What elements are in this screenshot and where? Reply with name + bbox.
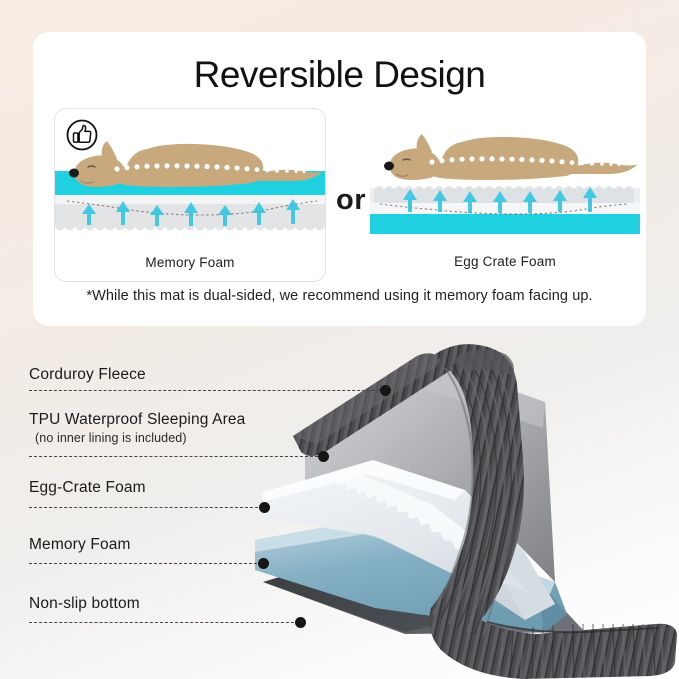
panel-memory-foam: Memory Foam (54, 108, 326, 282)
thumbs-up-icon (65, 118, 99, 152)
leader-dot-tpu (318, 451, 329, 462)
panel-caption-memory-foam: Memory Foam (55, 255, 325, 270)
label-nonslip-bottom: Non-slip bottom (29, 595, 140, 613)
leader-line-memory-foam (29, 563, 262, 564)
reversible-design-card: Reversible Design (33, 32, 646, 326)
leader-dot-nonslip-bottom (295, 617, 306, 628)
label-memory-foam: Memory Foam (29, 536, 131, 554)
footnote-text: *While this mat is dual-sided, we recomm… (33, 288, 646, 304)
label-tpu-waterproof-sleeping-area: TPU Waterproof Sleeping Area (no inner l… (29, 411, 245, 445)
panel-caption-egg-crate-foam: Egg Crate Foam (370, 254, 640, 269)
leader-line-egg-crate-foam (29, 507, 263, 508)
label-egg-crate-foam: Egg-Crate Foam (29, 479, 146, 497)
panel-egg-crate-foam: Egg Crate Foam (370, 108, 640, 280)
leader-line-nonslip-bottom (29, 622, 299, 623)
leader-dot-egg-crate-foam (259, 502, 270, 513)
leader-line-corduroy-fleece (29, 390, 385, 391)
infographic-page: Reversible Design (0, 0, 679, 679)
egg-crate-foam-illustration (370, 108, 640, 248)
leader-dot-memory-foam (258, 558, 269, 569)
leader-line-tpu (29, 456, 323, 457)
label-corduroy-fleece: Corduroy Fleece (29, 366, 146, 384)
product-layers-photo (255, 332, 679, 679)
leader-dot-corduroy-fleece (380, 385, 391, 396)
page-title: Reversible Design (33, 54, 646, 96)
